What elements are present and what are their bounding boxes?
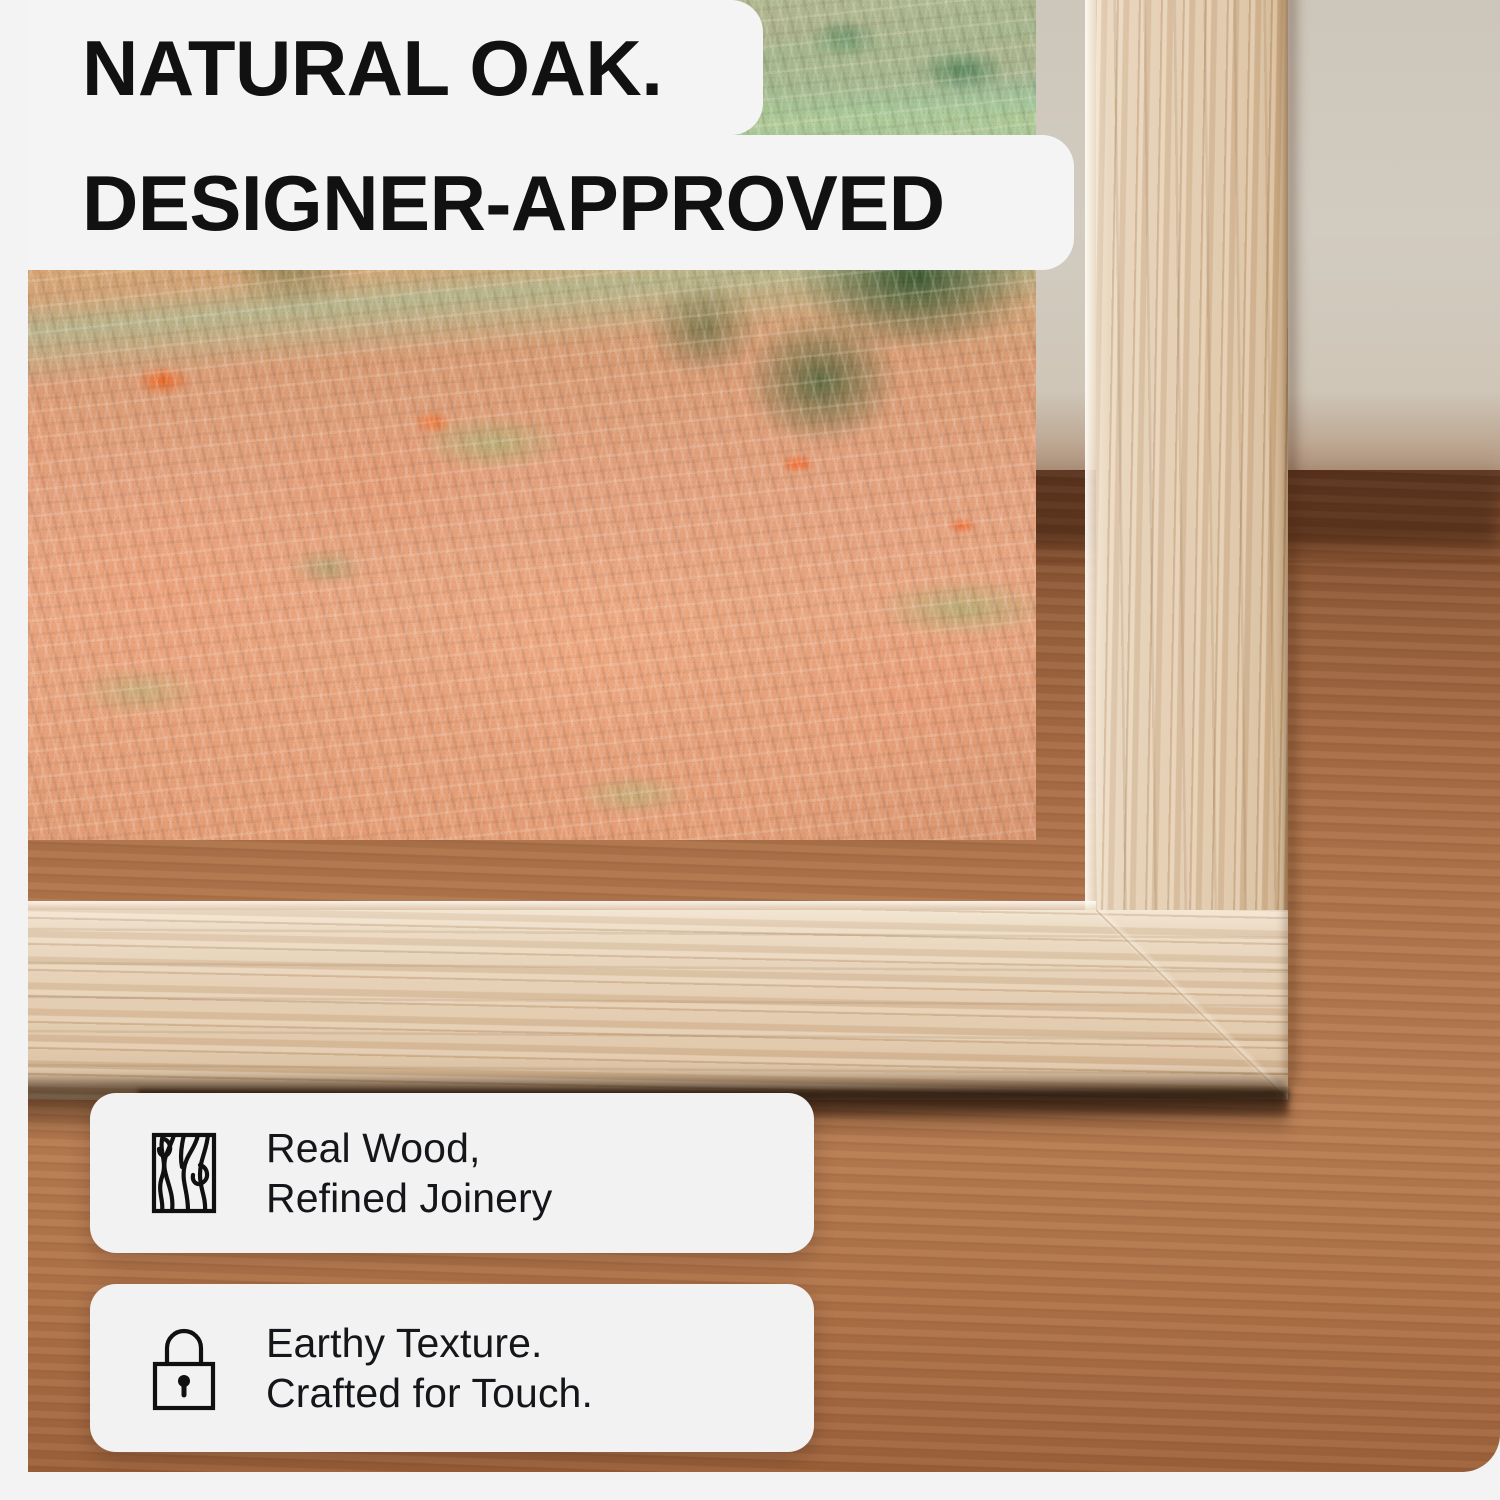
frame-edge-shadow	[1286, 0, 1302, 1080]
frame-mitre-highlight	[1096, 910, 1288, 1100]
product-photograph: NATURAL OAK. DESIGNER-APPROVED Real Wood…	[28, 0, 1500, 1472]
headline-line1: NATURAL OAK.	[82, 29, 662, 107]
feature-card-earthy-texture: Earthy Texture. Crafted for Touch.	[90, 1284, 814, 1452]
headline-chip-line2: DESIGNER-APPROVED	[28, 135, 1074, 270]
wood-grain-icon	[136, 1125, 232, 1221]
frame-inner-lip-right	[1085, 0, 1096, 940]
frame-inner-lip-bottom	[28, 901, 1096, 910]
page-border-left	[0, 0, 28, 1500]
headline-line2: DESIGNER-APPROVED	[82, 164, 945, 242]
frame-rail-right	[1096, 0, 1288, 1035]
headline-chip-line1: NATURAL OAK.	[28, 0, 763, 135]
feature-label-real-wood: Real Wood, Refined Joinery	[266, 1123, 552, 1223]
feature-label-earthy-texture: Earthy Texture. Crafted for Touch.	[266, 1318, 593, 1418]
page-border-bottom	[0, 1472, 1500, 1500]
feature-card-real-wood: Real Wood, Refined Joinery	[90, 1093, 814, 1253]
product-image-canvas: NATURAL OAK. DESIGNER-APPROVED Real Wood…	[0, 0, 1500, 1500]
lock-icon	[136, 1320, 232, 1416]
